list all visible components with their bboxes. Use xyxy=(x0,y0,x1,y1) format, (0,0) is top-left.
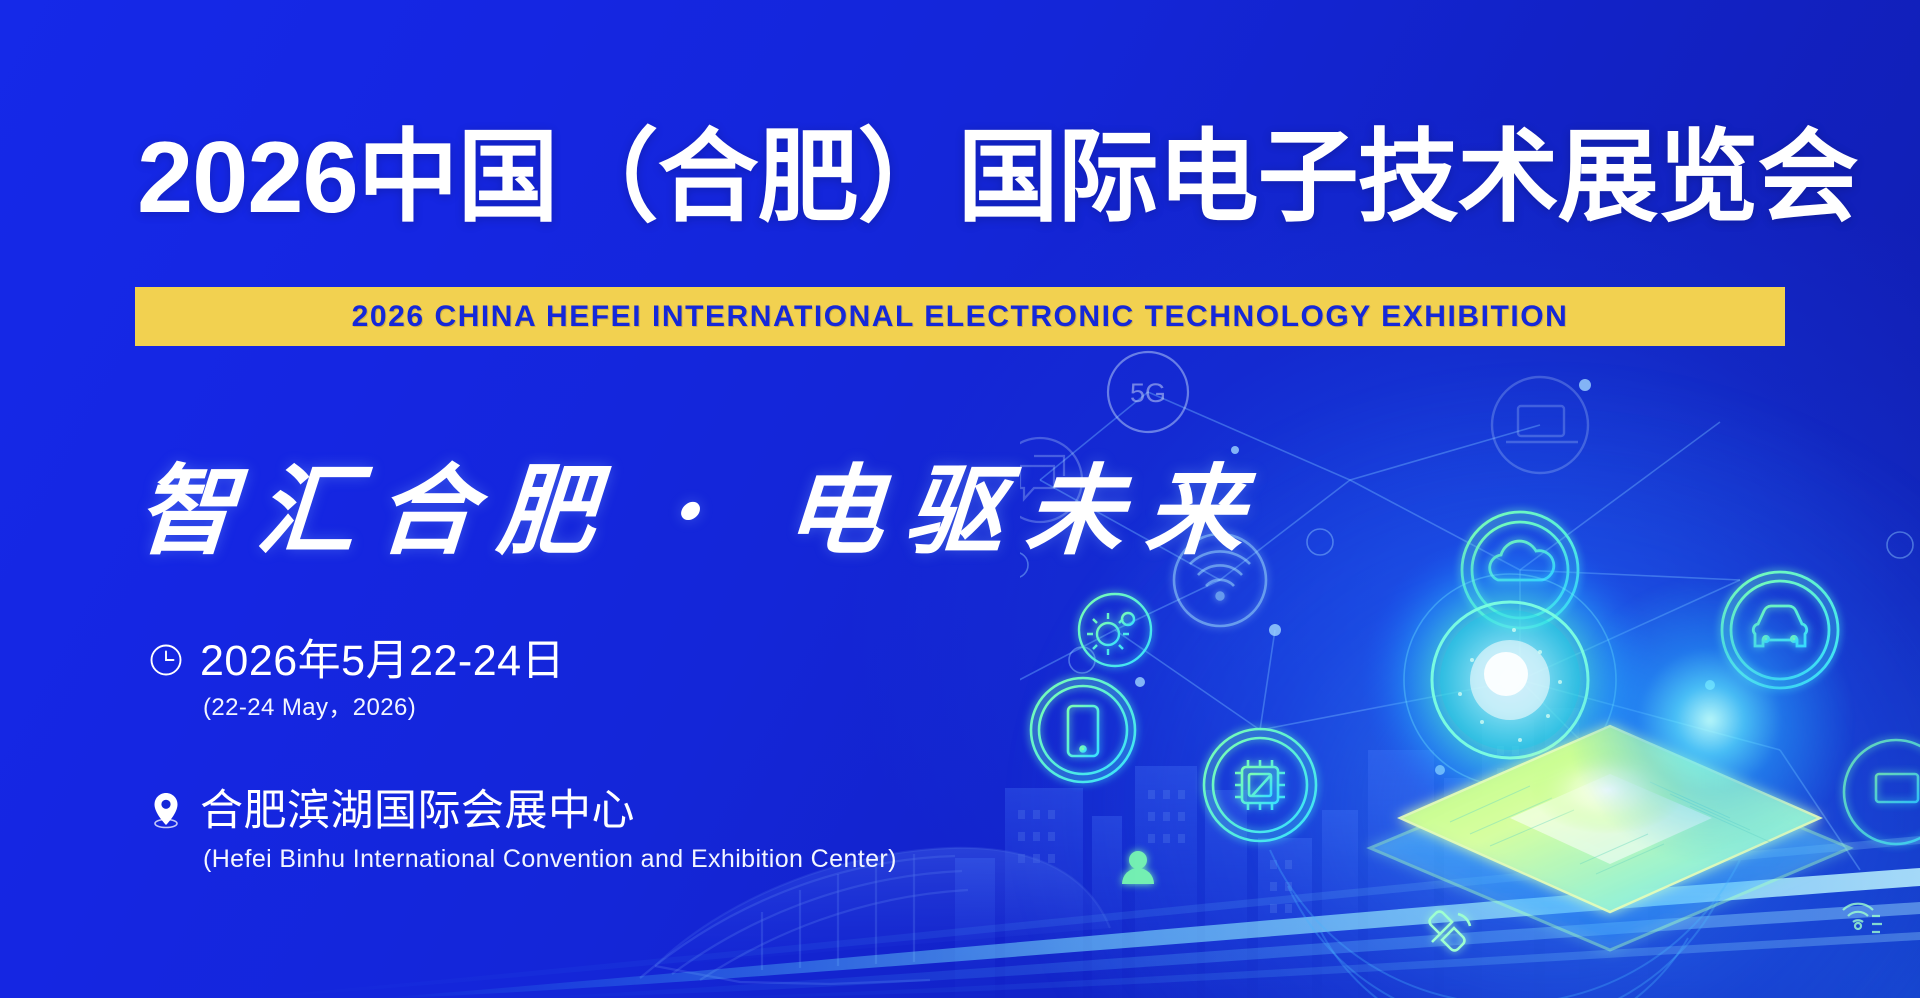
exhibition-banner: 5G xyxy=(0,0,1920,998)
date-block: 2026年5月22-24日 (22-24 May，2026) xyxy=(146,638,565,723)
venue-block: 合肥滨湖国际会展中心 (Hefei Binhu International Co… xyxy=(146,788,897,876)
slogan-calligraphy: 智汇合肥 · 电驱未来 xyxy=(133,432,1271,574)
location-pin-icon xyxy=(146,788,186,832)
venue-text-cn: 合肥滨湖国际会展中心 xyxy=(200,788,897,834)
date-text-en: (22-24 May，2026) xyxy=(203,693,565,723)
date-text-cn: 2026年5月22-24日 xyxy=(200,638,565,684)
clock-icon xyxy=(146,638,186,682)
banner-content: 2026中国（合肥）国际电子技术展览会 2026 CHINA HEFEI INT… xyxy=(0,0,1920,998)
english-title: 2026 CHINA HEFEI INTERNATIONAL ELECTRONI… xyxy=(352,300,1569,334)
english-title-bar: 2026 CHINA HEFEI INTERNATIONAL ELECTRONI… xyxy=(135,287,1785,346)
venue-text-en: (Hefei Binhu International Convention an… xyxy=(203,844,897,875)
page-title: 2026中国（合肥）国际电子技术展览会 xyxy=(137,122,1858,235)
